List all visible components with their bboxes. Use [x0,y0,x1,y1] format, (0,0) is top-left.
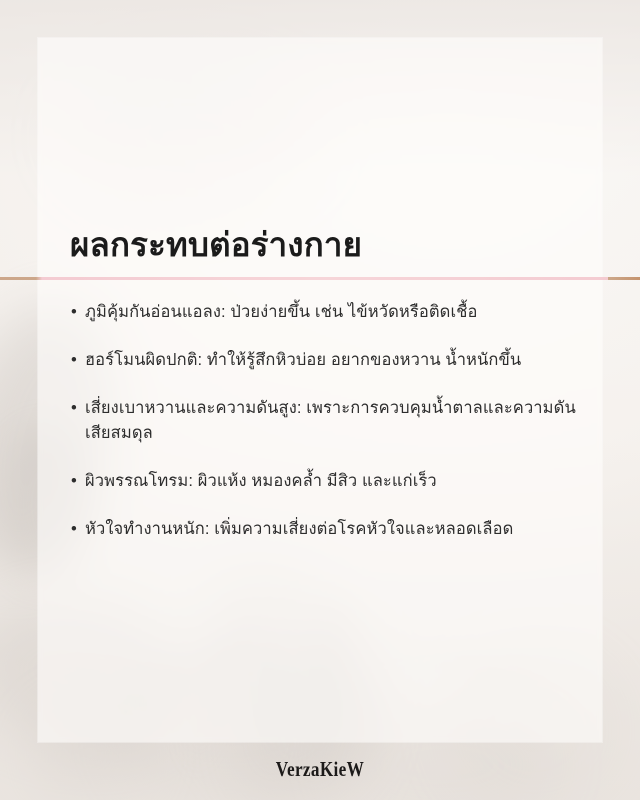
list-item-text: เสี่ยงเบาหวานและความดันสูง: เพราะการควบค… [85,399,576,442]
title-divider [0,277,640,280]
list-item: • หัวใจทำงานหนัก: เพิ่มความเสี่ยงต่อโรคห… [70,517,580,542]
list-item: • ฮอร์โมนผิดปกติ: ทำให้รู้สึกหิวบ่อย อยา… [70,348,580,373]
list-item: • เสี่ยงเบาหวานและความดันสูง: เพราะการคว… [70,396,580,446]
page-title: ผลกระทบต่อร่างกาย [70,224,362,266]
bullet-dot-icon: • [71,396,77,421]
bullet-dot-icon: • [71,300,77,325]
list-item-text: ผิวพรรณโทรม: ผิวแห้ง หมองคล้ำ มีสิว และแ… [85,472,437,490]
poster-canvas: ผลกระทบต่อร่างกาย • ภูมิคุ้มกันอ่อนแอลง:… [0,0,640,800]
list-item: • ภูมิคุ้มกันอ่อนแอลง: ป่วยง่ายขึ้น เช่น… [70,300,580,325]
bullet-dot-icon: • [71,348,77,373]
bullet-dot-icon: • [71,517,77,542]
bullet-dot-icon: • [71,469,77,494]
list-item: • ผิวพรรณโทรม: ผิวแห้ง หมองคล้ำ มีสิว แล… [70,469,580,494]
list-item-text: ฮอร์โมนผิดปกติ: ทำให้รู้สึกหิวบ่อย อยากข… [85,351,521,369]
list-item-text: หัวใจทำงานหนัก: เพิ่มความเสี่ยงต่อโรคหัว… [85,520,513,538]
effects-list: • ภูมิคุ้มกันอ่อนแอลง: ป่วยง่ายขึ้น เช่น… [70,300,580,542]
list-item-text: ภูมิคุ้มกันอ่อนแอลง: ป่วยง่ายขึ้น เช่น ไ… [85,303,478,321]
brand-watermark: VerzaKieW [58,757,583,782]
